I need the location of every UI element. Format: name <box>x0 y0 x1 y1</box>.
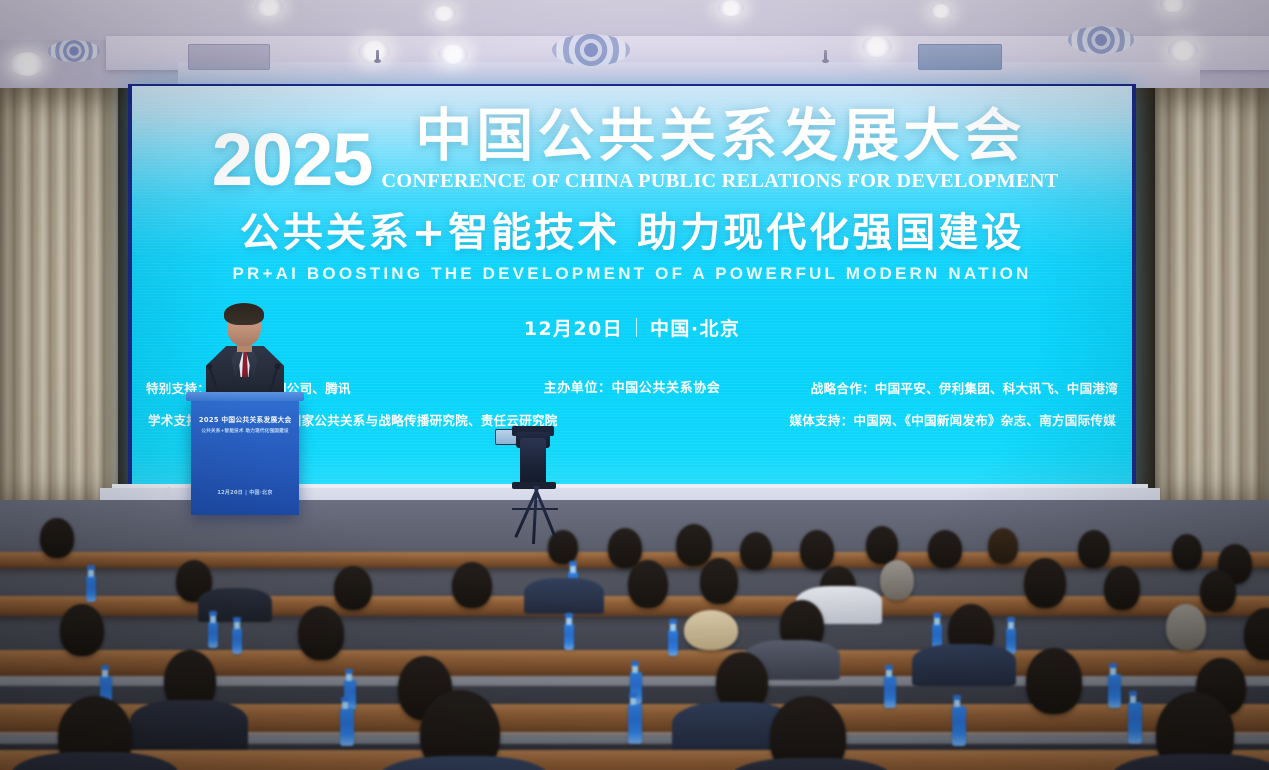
ceiling-downlight <box>432 6 456 21</box>
audience-head <box>628 560 668 608</box>
curtain-shadow-right <box>1133 88 1155 518</box>
date-location-row: 12月20日 中国·北京 <box>524 314 741 341</box>
water-bottle <box>668 630 678 656</box>
audience-head <box>40 518 74 558</box>
conference-photo: 2025 中国公共关系发展大会 CONFERENCE OF CHINA PUBL… <box>0 0 1269 770</box>
water-bottle <box>884 676 896 708</box>
audience-head <box>700 558 738 604</box>
water-bottle <box>952 706 966 746</box>
audience-area <box>0 500 1269 770</box>
ceiling-air-vent <box>918 44 1002 70</box>
ceiling-speaker <box>1068 26 1134 54</box>
audience-head <box>740 532 772 570</box>
audience-shoulders <box>130 700 248 752</box>
audience-head <box>1024 558 1066 608</box>
water-bottle <box>208 622 218 648</box>
audience-head <box>1078 530 1110 568</box>
sprinkler-head <box>376 50 379 61</box>
audience-head <box>1166 604 1206 650</box>
audience-head <box>334 566 372 610</box>
ceiling-downlight <box>930 4 952 18</box>
audience-head-with-hat <box>684 610 738 650</box>
partner-media: 媒体支持：中国网、《中国新闻发布》杂志、南方国际传媒 <box>789 410 1116 429</box>
event-date: 12月20日 <box>524 314 623 341</box>
main-title: 2025 中国公共关系发展大会 CONFERENCE OF CHINA PUBL… <box>212 108 1052 191</box>
audience-head <box>60 604 104 656</box>
audience-head <box>800 530 834 570</box>
podium-top <box>186 392 304 401</box>
podium-branding: 2025 中国公共关系发展大会 公共关系+智能技术 助力现代化强国建设 <box>191 415 299 434</box>
water-bottle <box>564 624 574 650</box>
audience-head <box>1200 570 1236 612</box>
sprinkler-head <box>824 50 827 61</box>
title-year: 2025 <box>212 130 373 191</box>
audience-shoulders <box>912 644 1016 686</box>
subtitle-chinese: 公共关系+智能技术 助力现代化强国建设 <box>240 213 1024 253</box>
curtain-right <box>1155 88 1269 518</box>
ceiling-speaker <box>48 40 100 62</box>
audience-head <box>608 528 642 568</box>
ceiling-downlight <box>10 52 44 76</box>
title-chinese: 中国公共关系发展大会 <box>415 108 1025 165</box>
partner-strategic: 战略合作：中国平安、伊利集团、科大讯飞、中国港湾 <box>811 378 1118 397</box>
audience-head <box>1026 648 1082 714</box>
audience-head <box>452 562 492 608</box>
podium-brand-title: 2025 中国公共关系发展大会 <box>199 415 292 425</box>
ceiling-downlight <box>718 0 744 16</box>
audience-head <box>1172 534 1202 570</box>
water-bottle <box>628 704 642 744</box>
audience-head <box>298 606 344 660</box>
podium: 2025 中国公共关系发展大会 公共关系+智能技术 助力现代化强国建设 12月2… <box>191 397 299 515</box>
ceiling-air-vent <box>188 44 270 70</box>
audience-head <box>676 524 712 566</box>
water-bottle <box>1128 702 1142 744</box>
ceiling-downlight <box>1168 40 1198 61</box>
speaker-person <box>196 306 294 402</box>
audience-head <box>866 526 898 564</box>
ceiling-downlight <box>862 36 892 57</box>
water-bottle <box>1108 674 1121 708</box>
subtitle-english: PR+AI BOOSTING THE DEVELOPMENT OF A POWE… <box>232 264 1031 284</box>
podium-date: 12月20日 | 中国·北京 <box>191 489 299 496</box>
ceiling-speaker <box>552 34 630 66</box>
curtain-left <box>0 88 118 518</box>
seat-row <box>0 750 1269 770</box>
ceiling-downlight <box>438 44 468 64</box>
audience-head <box>1104 566 1140 610</box>
water-bottle <box>232 628 242 654</box>
audience-head <box>928 530 962 568</box>
water-bottle <box>86 576 96 602</box>
water-bottle <box>340 708 354 746</box>
speaker-hair <box>224 303 264 325</box>
title-block: 中国公共关系发展大会 CONFERENCE OF CHINA PUBLIC RE… <box>388 108 1052 191</box>
camera-body <box>520 438 546 486</box>
audience-head <box>880 560 914 600</box>
date-separator <box>636 318 637 337</box>
title-english: CONFERENCE OF CHINA PUBLIC RELATIONS FOR… <box>382 171 1059 191</box>
audience-head <box>988 528 1018 564</box>
broadcast-camera <box>492 424 578 534</box>
podium-brand-subtitle: 公共关系+智能技术 助力现代化强国建设 <box>201 428 288 434</box>
ceiling <box>0 0 1269 92</box>
event-location: 中国·北京 <box>650 314 740 341</box>
audience-shoulders <box>524 578 604 614</box>
